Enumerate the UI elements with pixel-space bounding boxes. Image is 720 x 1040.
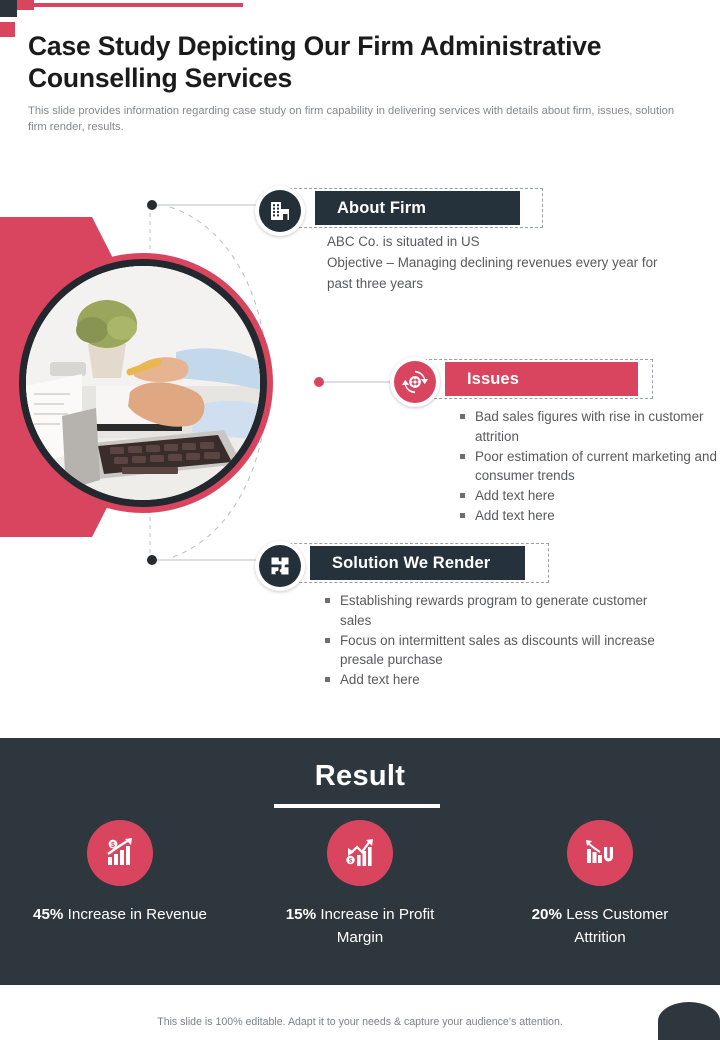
puzzle-icon (268, 554, 292, 578)
section-issues-label: Issues (467, 370, 519, 389)
result-label: 20% Less Customer Attrition (508, 904, 693, 950)
result-label: 45% Increase in Revenue (33, 904, 207, 927)
list-item: Poor estimation of current marketing and… (458, 447, 720, 487)
decor-red-square-lower (0, 22, 15, 37)
page-title: Case Study Depicting Our Firm Administra… (28, 30, 688, 95)
section-about: About Firm ABC Co. is situated in US Obj… (255, 186, 685, 228)
building-icon (268, 199, 292, 223)
result-item-revenue: $ 45% Increase in Revenue (0, 820, 240, 950)
list-item: Focus on intermittent sales as discounts… (323, 631, 668, 671)
result-value: 20% (532, 906, 562, 923)
photo-circle (13, 253, 273, 513)
result-label: 15% Increase in Profit Margin (268, 904, 453, 950)
result-title-underline (274, 804, 440, 808)
list-item: Add text here (323, 670, 668, 690)
result-value: 45% (33, 906, 63, 923)
profit-chart-icon: $ (342, 835, 378, 871)
badge-inner (259, 545, 301, 587)
section-about-banner: About Firm (255, 186, 685, 228)
section-solution-label: Solution We Render (332, 554, 490, 573)
section-solution-banner-fill: Solution We Render (310, 546, 525, 580)
result-circle[interactable]: $ (87, 820, 153, 886)
page-subtitle: This slide provides information regardin… (28, 103, 676, 135)
photo-image (26, 266, 260, 500)
section-issues-bullets: Bad sales figures with rise in customer … (458, 407, 720, 526)
section-about-body: ABC Co. is situated in US Objective – Ma… (327, 232, 677, 295)
header: Case Study Depicting Our Firm Administra… (28, 30, 688, 135)
result-items: $ 45% Increase in Revenue (0, 820, 720, 950)
section-solution-bullets: Establishing rewards program to generate… (323, 591, 668, 690)
photo-illustration (26, 266, 260, 500)
section-issues-banner-fill: Issues (445, 362, 638, 396)
list-item: Bad sales figures with rise in customer … (458, 407, 720, 447)
section-about-label: About Firm (337, 199, 426, 218)
result-text: Increase in Revenue (63, 906, 207, 923)
list-item: Establishing rewards program to generate… (323, 591, 668, 631)
section-issues-badge[interactable] (390, 357, 440, 407)
result-title: Result (0, 760, 720, 793)
declining-chart-user-icon (582, 835, 618, 871)
section-about-banner-fill: About Firm (315, 191, 520, 225)
section-about-badge[interactable] (255, 186, 305, 236)
decor-red-square-top (17, 0, 34, 10)
list-item: Add text here (458, 506, 720, 526)
section-solution-badge[interactable] (255, 541, 305, 591)
section-issues: Issues (390, 357, 720, 399)
section-solution-banner: Solution We Render (255, 541, 695, 583)
footer-note: This slide is 100% editable. Adapt it to… (0, 1016, 720, 1028)
decor-red-line (17, 3, 243, 7)
decor-footer-blob (658, 1002, 720, 1040)
list-item: Add text here (458, 486, 720, 506)
result-value: 15% (286, 906, 316, 923)
badge-inner (394, 361, 436, 403)
decor-dark-square (0, 0, 17, 17)
result-item-profit: $ 15% Increase in Profit Margin (240, 820, 480, 950)
result-section: Result $ 45% Incr (0, 738, 720, 985)
result-text: Less Customer Attrition (562, 906, 668, 946)
section-issues-banner: Issues (390, 357, 720, 399)
section-solution: Solution We Render Establishing rewards … (255, 541, 695, 583)
result-item-attrition: 20% Less Customer Attrition (480, 820, 720, 950)
result-text: Increase in Profit Margin (316, 906, 434, 946)
result-circle[interactable]: $ (327, 820, 393, 886)
growth-chart-dollar-icon: $ (102, 835, 138, 871)
refresh-gear-icon (402, 369, 428, 395)
svg-text:$: $ (111, 842, 115, 849)
result-circle[interactable] (567, 820, 633, 886)
badge-inner (259, 190, 301, 232)
